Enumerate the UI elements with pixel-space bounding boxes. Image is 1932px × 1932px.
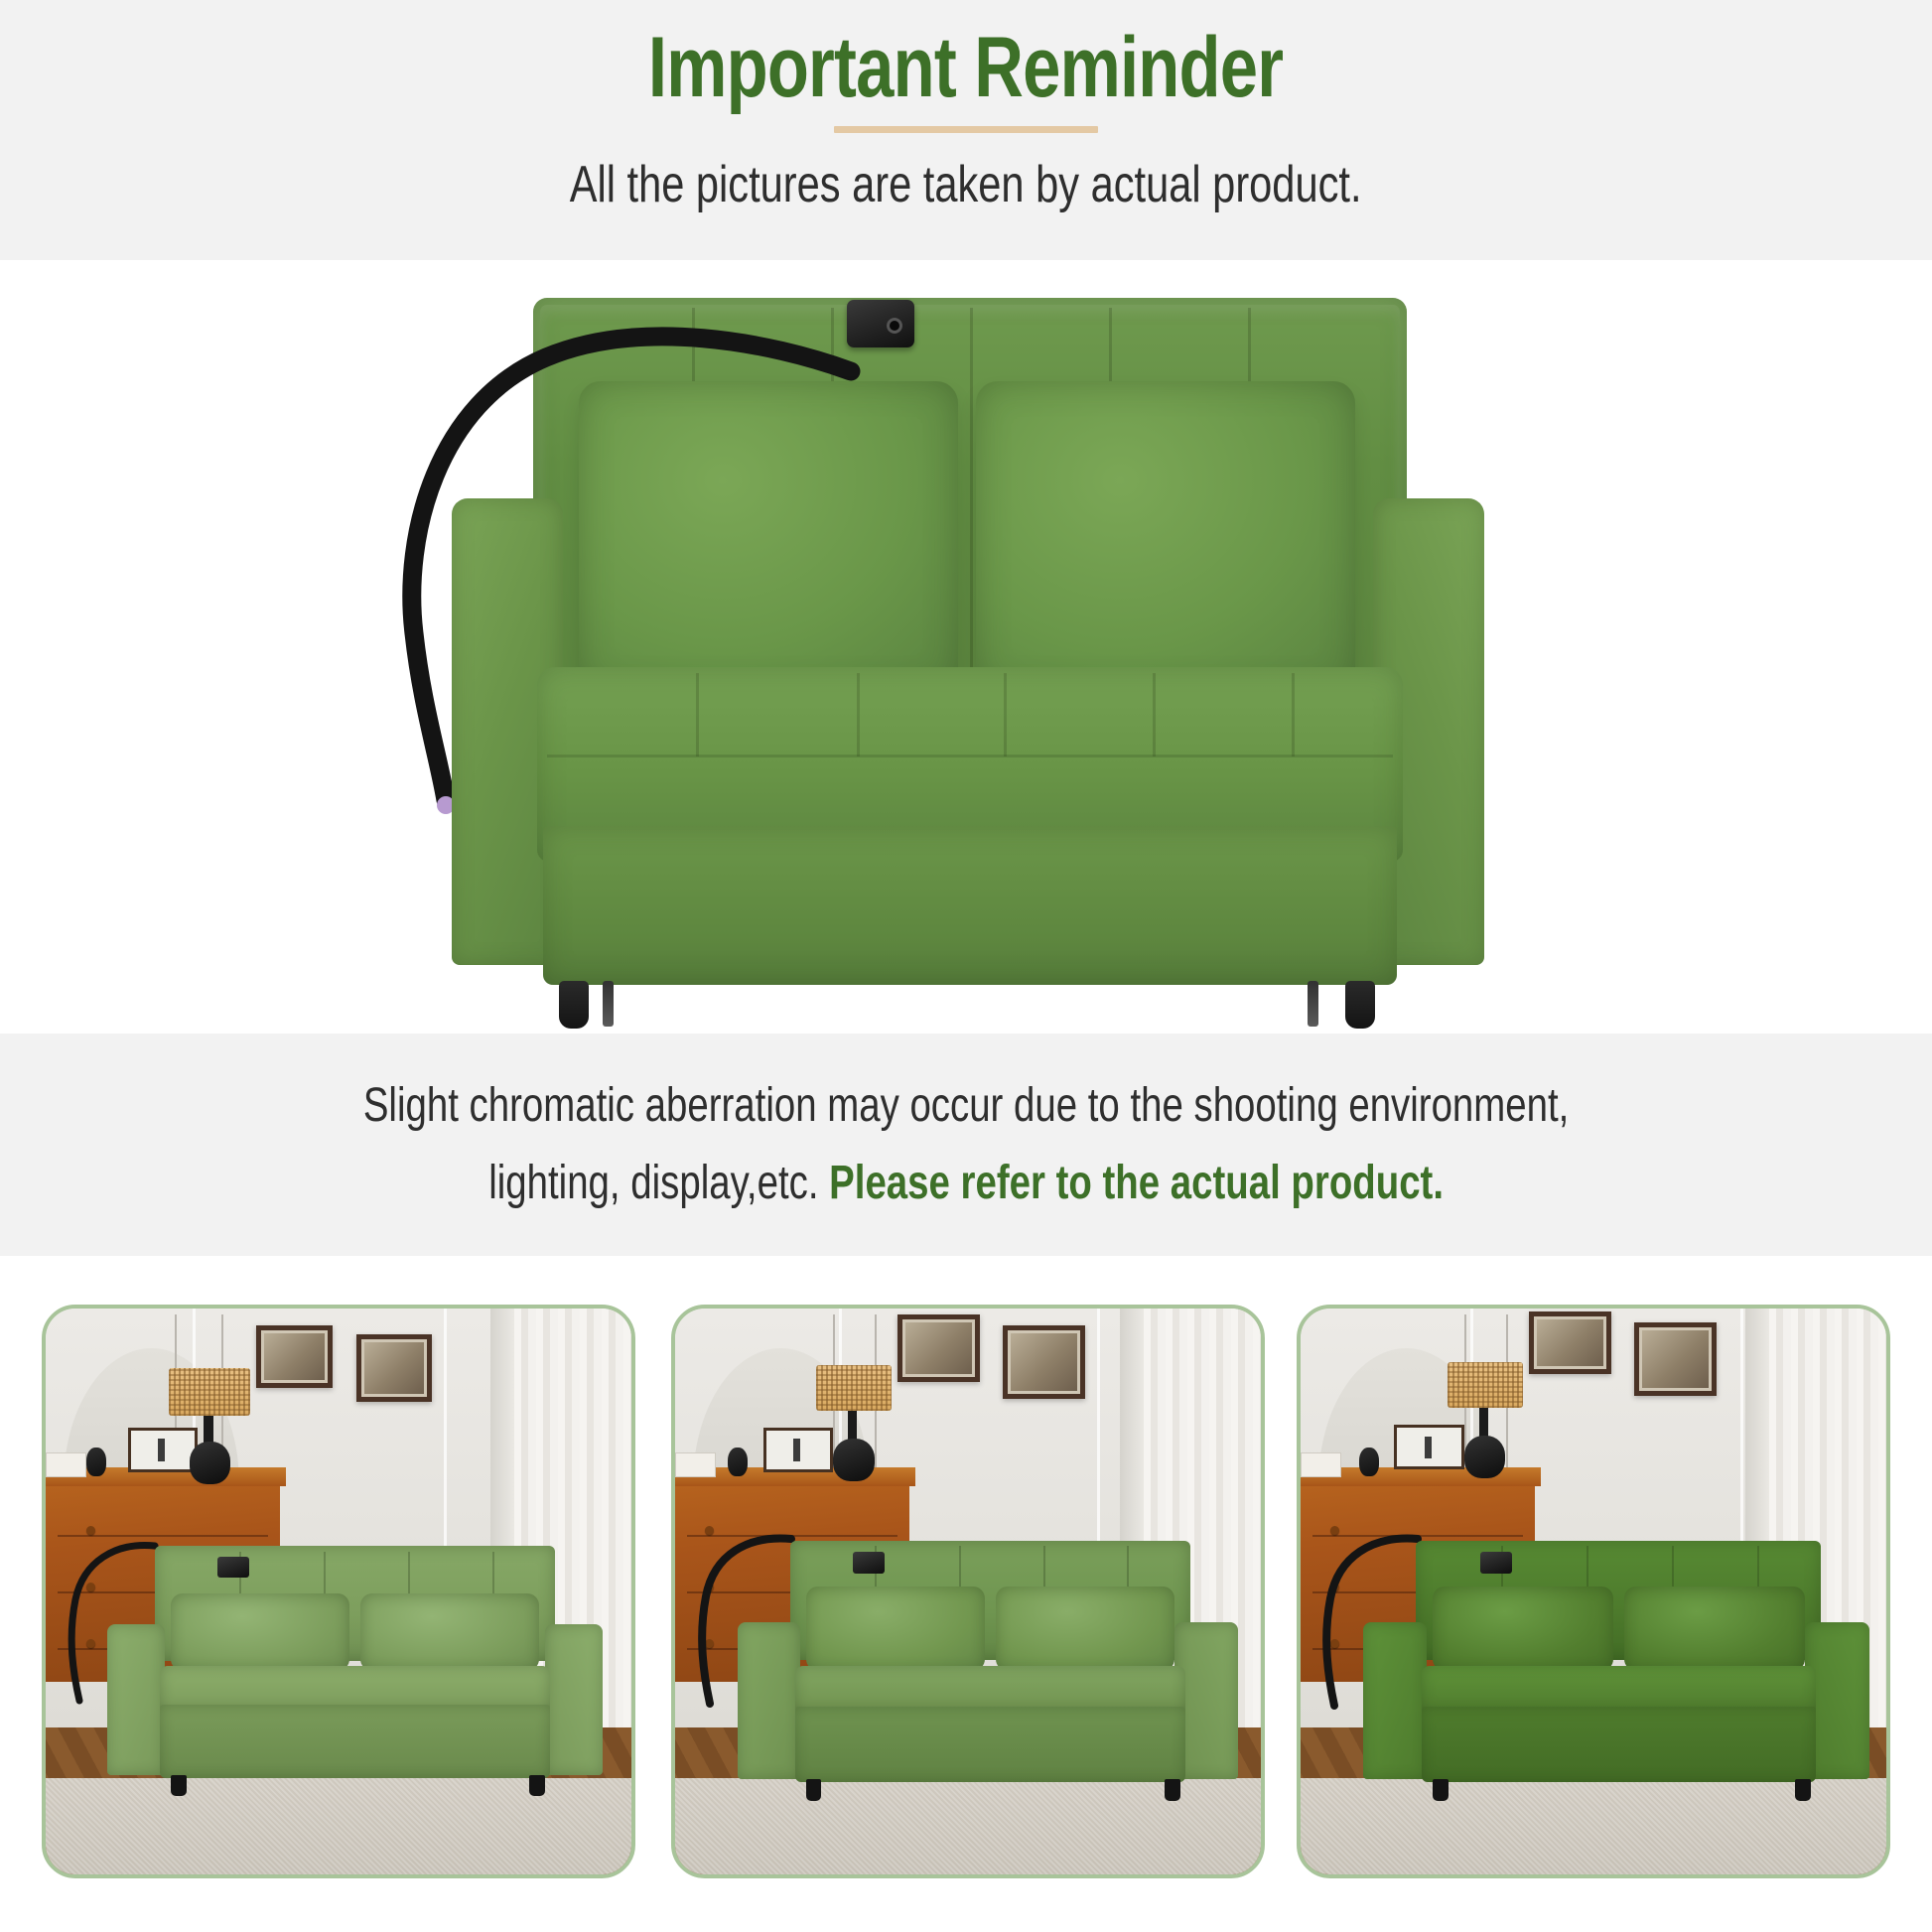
usb-power-port[interactable] xyxy=(847,300,914,347)
sofa-arm-right xyxy=(545,1624,603,1775)
note-line-2-emphasis: Please refer to the actual product. xyxy=(829,1157,1444,1209)
seat-tuft-seam xyxy=(857,673,860,757)
sofa-pullout-base xyxy=(795,1707,1185,1783)
decor-vase xyxy=(728,1448,748,1477)
note-line-2-plain: lighting, display,etc. xyxy=(488,1157,829,1209)
sofa-seat-cushion xyxy=(160,1666,550,1711)
rattan-lamp-shade xyxy=(169,1368,251,1416)
product-sofa xyxy=(716,1541,1243,1813)
wall-art-2 xyxy=(1634,1322,1717,1396)
sofa-pullout-base xyxy=(160,1705,550,1777)
seat-tuft-seam-horizontal xyxy=(547,755,1393,758)
seat-tuft-seam xyxy=(696,673,699,757)
sofa-leg-right xyxy=(1165,1779,1180,1801)
page-title: Important Reminder xyxy=(648,22,1283,114)
gallery-thumbnail-3[interactable] xyxy=(1297,1305,1890,1878)
accent-pillow-right xyxy=(976,381,1355,691)
hero-photo-band xyxy=(0,260,1932,1034)
decor-vase xyxy=(86,1448,106,1477)
chromatic-aberration-note-band: Slight chromatic aberration may occur du… xyxy=(0,1034,1932,1256)
accent-pillow-left xyxy=(579,381,958,691)
sofa-arm-left xyxy=(1363,1622,1427,1780)
sofa-caster-left xyxy=(603,981,614,1027)
gallery-thumbnail-1[interactable] xyxy=(42,1305,635,1878)
sofa-pullout-base xyxy=(543,826,1397,985)
accent-pillow-right xyxy=(996,1587,1175,1671)
room-scene xyxy=(675,1309,1261,1874)
usb-power-port[interactable] xyxy=(1480,1552,1512,1574)
sofa-leg-left xyxy=(559,981,589,1029)
books xyxy=(675,1452,716,1477)
rattan-lamp-shade xyxy=(1448,1362,1524,1408)
wall-art-1 xyxy=(897,1314,980,1382)
sofa-leg-right xyxy=(529,1775,545,1796)
sofa-seat-cushion xyxy=(1422,1666,1816,1713)
tabletop-photo-frame xyxy=(763,1428,834,1473)
lamp-base xyxy=(1464,1436,1505,1478)
decor-vase xyxy=(1359,1448,1379,1477)
room-scene xyxy=(1301,1309,1886,1874)
rattan-lamp-shade xyxy=(816,1365,893,1411)
books xyxy=(46,1452,86,1477)
sofa-arm-left xyxy=(738,1622,801,1780)
tabletop-photo-frame xyxy=(128,1428,199,1473)
note-line-2: lighting, display,etc. Please refer to t… xyxy=(488,1145,1444,1222)
sofa-caster-right xyxy=(1308,981,1318,1027)
seat-tuft-seam xyxy=(1153,673,1156,757)
usb-power-port[interactable] xyxy=(853,1552,885,1574)
accent-pillow-right xyxy=(360,1593,540,1672)
sofa-arm-left xyxy=(107,1624,165,1775)
lamp-base xyxy=(833,1439,874,1481)
lamp-base xyxy=(190,1442,230,1484)
note-line-1: Slight chromatic aberration may occur du… xyxy=(363,1067,1570,1145)
product-sofa xyxy=(80,1546,608,1806)
reminder-header-band: Important Reminder All the pictures are … xyxy=(0,0,1932,260)
title-divider xyxy=(834,126,1098,133)
tabletop-photo-frame xyxy=(1394,1425,1464,1470)
gallery-thumbnail-2[interactable] xyxy=(671,1305,1265,1878)
accent-pillow-left xyxy=(806,1587,986,1671)
gallery-band xyxy=(0,1256,1932,1932)
wall-art-1 xyxy=(1529,1311,1611,1374)
sofa-leg-right xyxy=(1795,1779,1811,1801)
sofa-seat-cushion xyxy=(795,1666,1185,1713)
backrest-seam xyxy=(970,308,973,705)
page-subtitle: All the pictures are taken by actual pro… xyxy=(570,155,1362,214)
wall-art-2 xyxy=(356,1334,433,1402)
product-sofa xyxy=(1341,1541,1874,1813)
accent-pillow-left xyxy=(1433,1587,1614,1671)
sofa-pullout-base xyxy=(1422,1707,1816,1783)
room-scene xyxy=(46,1309,631,1874)
wall-art-1 xyxy=(256,1325,333,1388)
usb-power-port[interactable] xyxy=(217,1557,249,1578)
seat-tuft-seam xyxy=(1292,673,1295,757)
sofa-leg-left xyxy=(171,1775,187,1796)
accent-pillow-left xyxy=(171,1593,350,1672)
hero-product-image xyxy=(452,270,1484,1030)
sofa-leg-right xyxy=(1345,981,1375,1029)
sofa-leg-left xyxy=(1433,1779,1449,1801)
books xyxy=(1301,1452,1341,1477)
sofa-leg-left xyxy=(806,1779,822,1801)
wall-art-2 xyxy=(1003,1325,1085,1399)
seat-tuft-seam xyxy=(1004,673,1007,757)
accent-pillow-right xyxy=(1624,1587,1806,1671)
